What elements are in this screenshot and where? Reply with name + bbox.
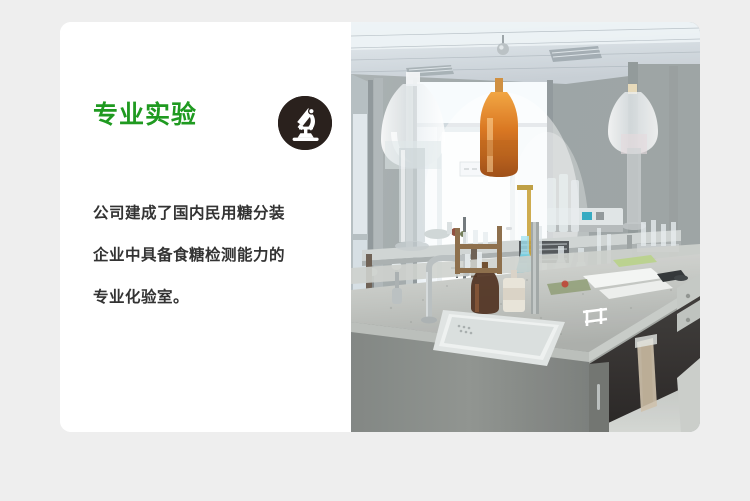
microscope-icon	[278, 96, 332, 150]
body-line-2: 企业中具备食糖检测能力的	[93, 234, 333, 276]
body-line-3: 专业化验室。	[93, 276, 333, 318]
body-line-1: 公司建成了国内民用糖分装	[93, 192, 333, 234]
laboratory-photo	[351, 22, 700, 432]
headline-row: 专业实验	[93, 94, 323, 152]
content-card: 专业实验	[60, 22, 700, 432]
screenshot-root: 专业实验	[0, 0, 750, 501]
body-text: 公司建成了国内民用糖分装 企业中具备食糖检测能力的 专业化验室。	[93, 192, 333, 318]
page-title: 专业实验	[93, 99, 197, 131]
text-panel: 专业实验	[60, 22, 351, 432]
